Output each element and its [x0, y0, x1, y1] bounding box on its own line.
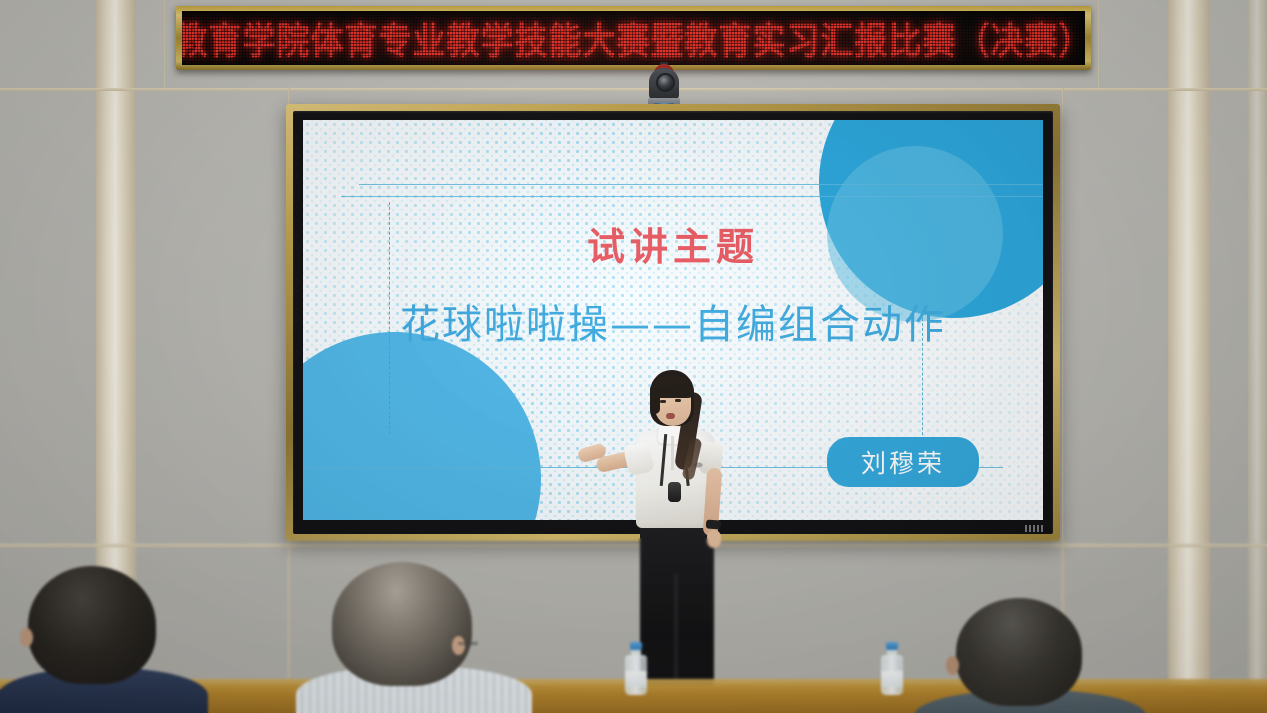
bottle-cap	[886, 642, 898, 650]
camera-lens-icon	[658, 75, 673, 90]
judge-center-glasses	[458, 642, 478, 645]
water-bottle	[881, 643, 903, 695]
slide-subtitle: 花球啦啦操——自编组合动作	[303, 292, 1043, 350]
wall-seam-3	[164, 0, 166, 88]
slide-title: 试讲主题	[303, 216, 1043, 271]
wall-seam-4	[1098, 0, 1100, 88]
slide-rule-top-1	[359, 184, 1043, 185]
wall-pilaster-right	[1168, 0, 1210, 713]
judge-center-ear	[452, 636, 465, 655]
judge-right-ear	[946, 656, 959, 675]
water-bottle	[625, 643, 647, 695]
judge-left-head	[28, 566, 156, 684]
presenter-eye-right	[675, 399, 681, 402]
slide-rule-top-2	[341, 196, 1043, 197]
led-banner: 教育学院体育专业教学技能大赛暨教育实习汇报比赛（决赛）	[176, 6, 1091, 70]
presenter-left-hand	[707, 530, 721, 548]
led-banner-screen: 教育学院体育专业教学技能大赛暨教育实习汇报比赛（决赛）	[182, 11, 1085, 65]
presenter-wristwatch	[706, 519, 722, 529]
presenter-placket	[671, 436, 674, 470]
lecture-hall-photo: 教育学院体育专业教学技能大赛暨教育实习汇报比赛（决赛）	[0, 0, 1267, 713]
wall-trim-top	[0, 88, 1267, 91]
judge-left	[8, 550, 188, 713]
display-brand-mark	[1025, 525, 1043, 532]
judge-left-ear	[20, 628, 33, 647]
presenter-microphone	[668, 482, 681, 502]
judge-right	[930, 580, 1130, 713]
bottle-label	[881, 671, 903, 687]
wall-pilaster-far-right	[1248, 0, 1267, 713]
presenter-mouth	[666, 413, 675, 419]
led-banner-text: 教育学院体育专业教学技能大赛暨教育实习汇报比赛（决赛）	[182, 11, 1085, 65]
bottle-cap	[630, 642, 642, 650]
judge-center-head	[332, 562, 472, 686]
bottle-label	[625, 671, 647, 687]
presenter-eye-left	[660, 400, 666, 403]
presenter-hair-side	[650, 384, 660, 414]
judge-center	[310, 550, 510, 713]
judge-right-head	[956, 598, 1082, 706]
